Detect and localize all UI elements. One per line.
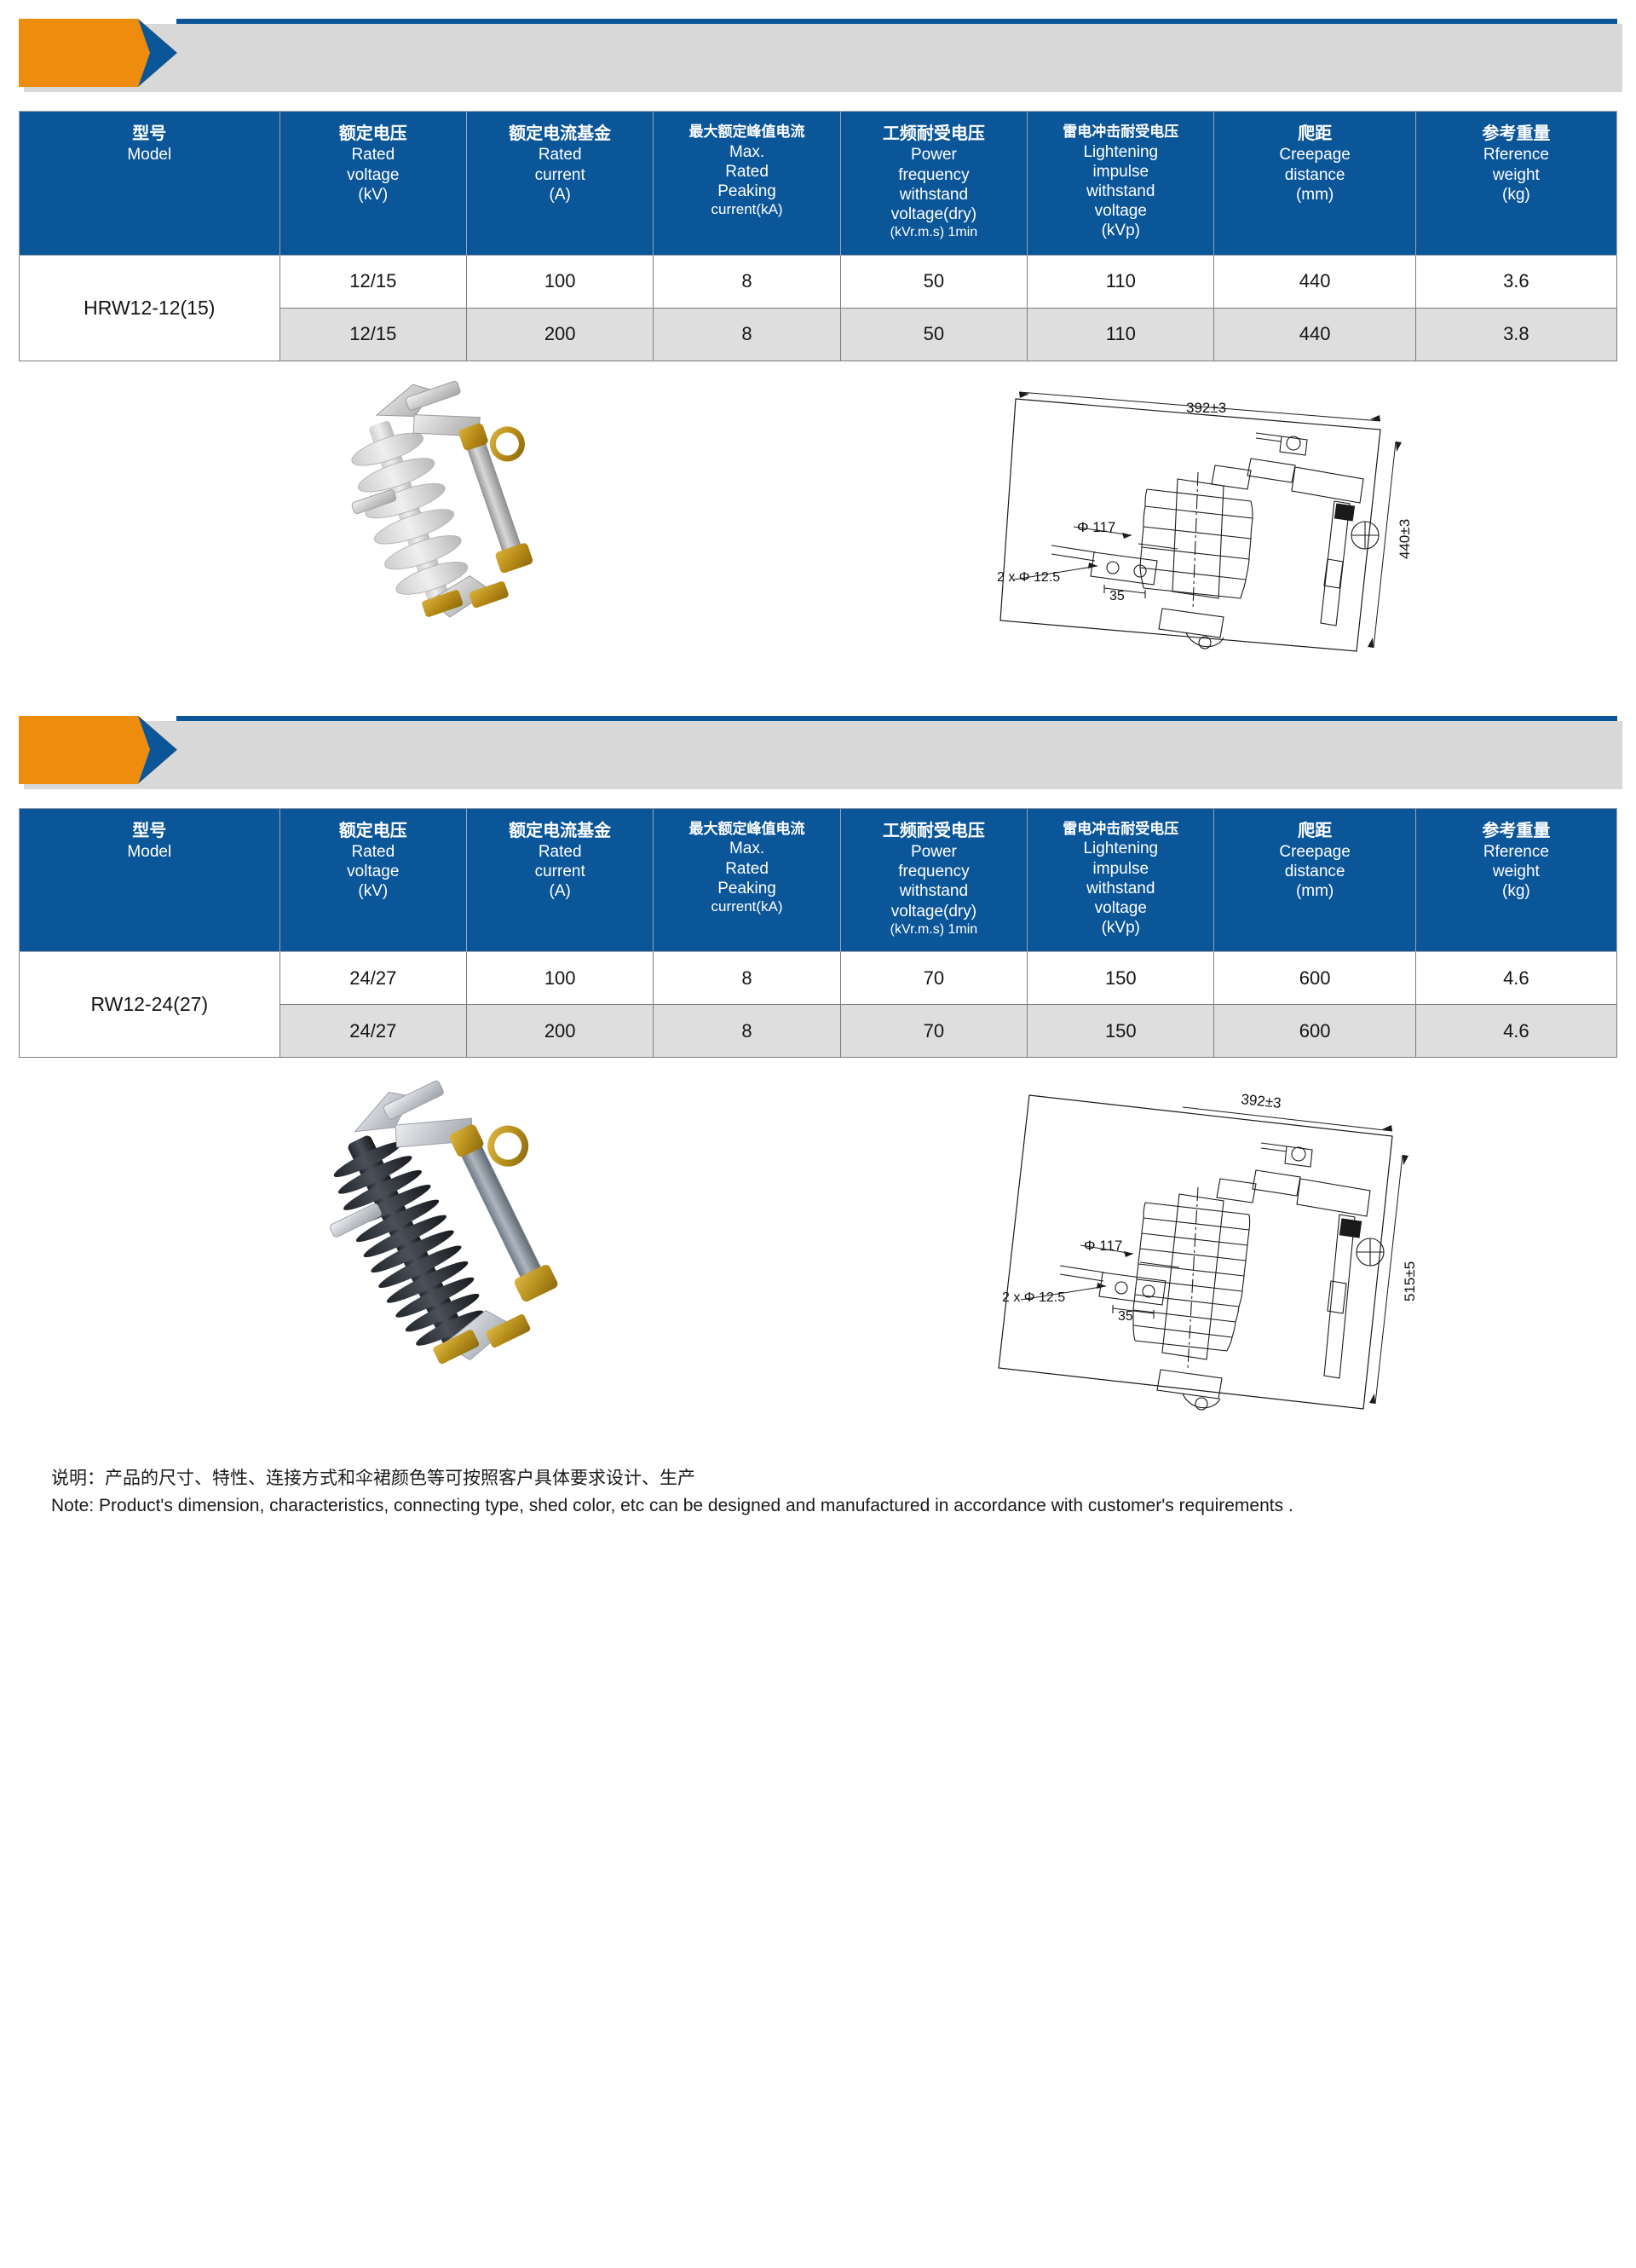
header-zh: 额定电压	[284, 124, 463, 145]
col-header-rated-current: 额定电流基金 Rated current (A)	[466, 808, 653, 952]
col-header-power-frequency: 工频耐受电压 Power frequency withstand voltage…	[840, 112, 1027, 256]
header-en: Rated	[284, 145, 463, 164]
cell-weight: 3.6	[1415, 255, 1616, 308]
col-header-reference-weight: 参考重量 Rference weight (kg)	[1415, 112, 1616, 256]
col-header-max-peak-current: 最大额定峰值电流 Max. Rated Peaking current(kA)	[654, 808, 840, 952]
cell-lightning-impulse: 150	[1028, 952, 1214, 1005]
dim-holes-label: 2 x Φ 12.5	[997, 570, 1060, 585]
col-header-lightning-impulse: 雷电冲击耐受电压 Lightening impulse withstand vo…	[1028, 808, 1214, 952]
spec-table-12kv: 型号 Model 额定电压 Rated voltage (kV) 额定电流基金 …	[19, 111, 1617, 361]
header-en: Rated	[470, 842, 649, 862]
spec-table-24kv: 型号 Model 额定电压 Rated voltage (kV) 额定电流基金 …	[19, 808, 1617, 1059]
header-en: voltage	[1031, 898, 1210, 918]
header-zh: 爬距	[1218, 821, 1411, 842]
cell-creepage: 600	[1214, 952, 1415, 1005]
cell-rated-voltage: 12/15	[279, 255, 466, 308]
section-banner-24kv: 24kV-27kV 熔断器 24kV-27kV Cut-out Fuses	[19, 716, 1617, 784]
header-zh: 额定电流基金	[470, 821, 649, 842]
header-en: Max.	[657, 839, 836, 858]
col-header-creepage-distance: 爬距 Creepage distance (mm)	[1214, 112, 1415, 256]
cell-lightning-impulse: 110	[1028, 255, 1214, 308]
header-en: weight	[1420, 165, 1613, 185]
header-en: voltage	[1031, 201, 1210, 221]
header-en: (mm)	[1218, 185, 1411, 205]
dim-hole-spacing-label: 35	[1109, 589, 1125, 603]
header-en: (A)	[470, 185, 649, 205]
header-zh: 最大额定峰值电流	[657, 821, 836, 840]
dim-width-label: 392±3	[1240, 1091, 1282, 1111]
header-en: Max.	[657, 142, 836, 162]
header-en: Model	[23, 842, 276, 862]
cell-max-peak-current: 8	[654, 308, 840, 361]
product-photo-12kv	[19, 377, 850, 675]
header-en: distance	[1218, 165, 1411, 185]
note-english: Note: Product's dimension, characteristi…	[51, 1492, 1585, 1520]
header-zh: 雷电冲击耐受电压	[1031, 124, 1210, 142]
header-en: frequency	[844, 165, 1023, 185]
cell-power-frequency: 50	[840, 255, 1027, 308]
cell-rated-voltage: 24/27	[279, 952, 466, 1005]
header-en: Creepage	[1218, 145, 1411, 164]
header-en: impulse	[1031, 162, 1210, 182]
note-chinese: 说明：产品的尺寸、特性、连接方式和伞裙颜色等可按照客户具体要求设计、生产	[51, 1465, 1585, 1492]
spec-table-wrap-24kv: 型号 Model 额定电压 Rated voltage (kV) 额定电流基金 …	[19, 808, 1617, 1059]
header-en: (kV)	[284, 185, 463, 205]
header-en: withstand	[1031, 879, 1210, 898]
header-zh: 额定电流基金	[470, 124, 649, 145]
banner-orange-block	[19, 19, 138, 87]
header-zh: 最大额定峰值电流	[657, 124, 836, 142]
dim-holes-label: 2 x Φ 12.5	[1002, 1290, 1065, 1305]
header-en: Lightening	[1031, 839, 1210, 858]
cell-power-frequency: 50	[840, 308, 1027, 361]
header-en: Rference	[1420, 145, 1613, 164]
cell-power-frequency: 70	[840, 952, 1027, 1005]
dim-width-label: 392±3	[1186, 400, 1226, 416]
section-banner-12kv: 12kV-15kV 熔断器 12kV-15kV Cut-out Fuses	[19, 19, 1617, 87]
dim-height-label: 515±5	[1402, 1261, 1418, 1301]
header-en: frequency	[844, 862, 1023, 881]
cell-rated-voltage: 24/27	[279, 1005, 466, 1058]
table-header-row: 型号 Model 额定电压 Rated voltage (kV) 额定电流基金 …	[20, 112, 1617, 256]
header-en: current	[470, 165, 649, 185]
header-zh: 额定电压	[284, 821, 463, 842]
cell-lightning-impulse: 150	[1028, 1005, 1214, 1058]
table-row: HRW12-12(15) 12/15 100 8 50 110 440 3.6	[20, 255, 1617, 308]
header-zh: 参考重量	[1420, 821, 1613, 842]
header-en: withstand	[844, 185, 1023, 205]
header-zh: 爬距	[1218, 124, 1411, 145]
cell-model: RW12-24(27)	[20, 952, 280, 1058]
footer-note: 说明：产品的尺寸、特性、连接方式和伞裙颜色等可按照客户具体要求设计、生产 Not…	[51, 1465, 1585, 1519]
cell-rated-current: 100	[466, 255, 653, 308]
header-zh: 工频耐受电压	[844, 821, 1023, 842]
header-en: voltage	[284, 862, 463, 881]
header-en: voltage	[284, 165, 463, 185]
col-header-rated-voltage: 额定电压 Rated voltage (kV)	[279, 112, 466, 256]
header-en: Peaking	[657, 879, 836, 898]
header-en: Peaking	[657, 182, 836, 201]
header-zh: 工频耐受电压	[844, 124, 1023, 145]
cell-weight: 4.6	[1415, 952, 1616, 1005]
header-en: withstand	[1031, 182, 1210, 201]
cell-rated-voltage: 12/15	[279, 308, 466, 361]
header-en: current	[470, 862, 649, 881]
header-zh: 参考重量	[1420, 124, 1613, 145]
dim-diameter-label: Φ 117	[1084, 1238, 1122, 1254]
figures-row-12kv: 392±3 Φ 117 2 x Φ 12.5 35 440±3	[19, 377, 1617, 675]
col-header-reference-weight: 参考重量 Rference weight (kg)	[1415, 808, 1616, 952]
dimension-drawing-12kv: 392±3 Φ 117 2 x Φ 12.5 35 440±3	[850, 377, 1617, 675]
cell-rated-current: 200	[466, 1005, 653, 1058]
header-en: (kg)	[1420, 185, 1613, 205]
header-en: Rated	[657, 162, 836, 182]
header-en: voltage(dry)	[844, 205, 1023, 224]
header-en: impulse	[1031, 859, 1210, 879]
header-en: distance	[1218, 862, 1411, 881]
cell-lightning-impulse: 110	[1028, 308, 1214, 361]
header-en: Power	[844, 842, 1023, 862]
cell-rated-current: 100	[466, 952, 653, 1005]
fuse-photo-gray-svg	[196, 377, 673, 675]
header-en: Power	[844, 145, 1023, 164]
spec-table-wrap-12kv: 型号 Model 额定电压 Rated voltage (kV) 额定电流基金 …	[19, 111, 1617, 361]
cell-model: HRW12-12(15)	[20, 255, 280, 361]
header-en: weight	[1420, 862, 1613, 881]
fuse-photo-dark-svg	[170, 1073, 699, 1431]
col-header-max-peak-current: 最大额定峰值电流 Max. Rated Peaking current(kA)	[654, 112, 840, 256]
header-en: Rated	[657, 859, 836, 879]
col-header-rated-current: 额定电流基金 Rated current (A)	[466, 112, 653, 256]
header-en: current(kA)	[657, 898, 836, 916]
cell-creepage: 440	[1214, 308, 1415, 361]
banner-orange-block	[19, 716, 138, 784]
cell-max-peak-current: 8	[654, 1005, 840, 1058]
cell-max-peak-current: 8	[654, 952, 840, 1005]
col-header-model: 型号 Model	[20, 112, 280, 256]
banner-shadow	[24, 24, 1622, 92]
cell-weight: 3.8	[1415, 308, 1616, 361]
cell-power-frequency: 70	[840, 1005, 1027, 1058]
header-en: Rference	[1420, 842, 1613, 862]
header-en: current(kA)	[657, 201, 836, 219]
dimension-drawing-24kv: 392±3 Φ 117 2 x Φ 12.5 35 515±5	[850, 1073, 1617, 1431]
header-en: Lightening	[1031, 142, 1210, 162]
cell-creepage: 440	[1214, 255, 1415, 308]
header-en: (kV)	[284, 881, 463, 901]
dim-height-label: 440±3	[1397, 518, 1413, 558]
technical-drawing-svg-12kv: 392±3 Φ 117 2 x Φ 12.5 35 440±3	[995, 377, 1472, 675]
table-header-row: 型号 Model 额定电压 Rated voltage (kV) 额定电流基金 …	[20, 808, 1617, 952]
cell-creepage: 600	[1214, 1005, 1415, 1058]
header-en: Rated	[470, 145, 649, 164]
header-en: (kVp)	[1031, 918, 1210, 938]
dim-diameter-label: Φ 117	[1077, 519, 1115, 535]
figures-row-24kv: 392±3 Φ 117 2 x Φ 12.5 35 515±5	[19, 1073, 1617, 1431]
col-header-creepage-distance: 爬距 Creepage distance (mm)	[1214, 808, 1415, 952]
header-en: (kVp)	[1031, 221, 1210, 240]
dim-hole-spacing-label: 35	[1118, 1309, 1133, 1324]
header-en: withstand	[844, 881, 1023, 901]
product-photo-24kv	[19, 1073, 850, 1431]
cell-rated-current: 200	[466, 308, 653, 361]
table-row: RW12-24(27) 24/27 100 8 70 150 600 4.6	[20, 952, 1617, 1005]
cell-weight: 4.6	[1415, 1005, 1616, 1058]
header-en: Rated	[284, 842, 463, 862]
header-en: (A)	[470, 881, 649, 901]
header-en: (mm)	[1218, 881, 1411, 901]
cell-max-peak-current: 8	[654, 255, 840, 308]
header-zh: 雷电冲击耐受电压	[1031, 821, 1210, 840]
header-en: (kVr.m.s) 1min	[844, 921, 1023, 938]
header-zh: 型号	[23, 821, 276, 842]
header-en: (kg)	[1420, 881, 1613, 901]
header-zh: 型号	[23, 124, 276, 145]
col-header-model: 型号 Model	[20, 808, 280, 952]
col-header-power-frequency: 工频耐受电压 Power frequency withstand voltage…	[840, 808, 1027, 952]
header-en: (kVr.m.s) 1min	[844, 224, 1023, 241]
header-en: Creepage	[1218, 842, 1411, 862]
col-header-lightning-impulse: 雷电冲击耐受电压 Lightening impulse withstand vo…	[1028, 112, 1214, 256]
banner-shadow	[24, 721, 1622, 789]
technical-drawing-svg-24kv: 392±3 Φ 117 2 x Φ 12.5 35 515±5	[978, 1073, 1489, 1431]
product-catalog-page: 12kV-15kV 熔断器 12kV-15kV Cut-out Fuses 型号…	[0, 19, 1636, 1544]
col-header-rated-voltage: 额定电压 Rated voltage (kV)	[279, 808, 466, 952]
header-en: Model	[23, 145, 276, 164]
header-en: voltage(dry)	[844, 902, 1023, 921]
